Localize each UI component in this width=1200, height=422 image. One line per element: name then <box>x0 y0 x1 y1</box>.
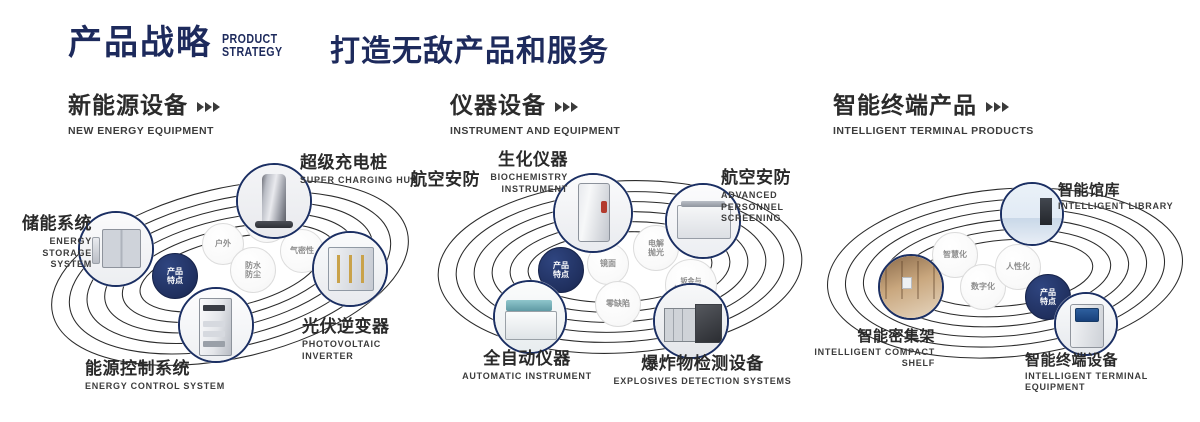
label-cn: 航空安防 <box>410 171 480 189</box>
node-photovoltaic-inverter[interactable] <box>312 231 388 307</box>
label-cn: 超级充电桩 <box>300 154 418 172</box>
label-super-charging-hub: 超级充电桩 SUPER CHARGING HUB <box>300 154 418 187</box>
section-title-row: 新能源设备 <box>68 95 220 118</box>
core-label-line1: 产品 <box>553 261 569 270</box>
feature-line1: 零缺陷 <box>606 299 630 308</box>
poster-canvas: 产品战略 PRODUCT STRATEGY 打造无敌产品和服务 新能源设备 NE… <box>0 0 1200 422</box>
feature-line1: 防水 <box>245 261 261 270</box>
node-automatic-instrument[interactable] <box>493 280 567 354</box>
feature-line1: 人性化 <box>1006 262 1030 271</box>
core-label-line2: 特点 <box>1040 297 1056 306</box>
page-subtitle: 打造无敌产品和服务 <box>330 34 609 70</box>
core-label-line1: 产品 <box>1040 288 1056 297</box>
cluster-new-energy: 产品 特点 户外 防腐 防锈 防水 防尘 气密性 <box>30 155 430 385</box>
label-aviation-security-left: 航空安防 <box>410 171 480 189</box>
label-en: ENERGY STORAGE SYSTEM <box>0 236 92 270</box>
label-cn: 爆炸物检测设备 <box>610 355 795 373</box>
label-intelligent-compact-shelf: 智能密集架 INTELLIGENT COMPACT SHELF <box>800 328 935 370</box>
label-en: INTELLIGENT LIBRARY <box>1058 201 1173 212</box>
label-intelligent-library: 智能馆库 INTELLIGENT LIBRARY <box>1058 182 1173 212</box>
node-intelligent-terminal-equipment[interactable] <box>1054 292 1118 356</box>
label-cn: 航空安防 <box>721 169 820 187</box>
page-title-en-line2: STRATEGY <box>222 45 283 58</box>
label-en: BIOCHEMISTRY INSTRUMENT <box>473 172 568 195</box>
node-explosives-detection-systems[interactable] <box>653 283 729 359</box>
section-title-cn: 新能源设备 <box>68 95 188 118</box>
feature-line2: 防尘 <box>245 270 261 279</box>
label-en: INTELLIGENT TERMINAL EQUIPMENT <box>1025 371 1200 394</box>
section-title-en: INSTRUMENT AND EQUIPMENT <box>450 125 620 137</box>
label-en: EXPLOSIVES DETECTION SYSTEMS <box>610 376 795 387</box>
feature-line1: 智慧化 <box>943 250 967 259</box>
core-label-line1: 产品 <box>167 267 183 276</box>
explosive-detector-photo <box>655 285 727 357</box>
inverter-cabinet-photo <box>314 233 386 305</box>
node-intelligent-compact-shelf[interactable] <box>878 254 944 320</box>
label-cn: 全自动仪器 <box>442 350 612 368</box>
label-cn: 智能终端设备 <box>1025 352 1200 368</box>
section-title-en: INTELLIGENT TERMINAL PRODUCTS <box>833 125 1034 137</box>
label-en: INTELLIGENT COMPACT SHELF <box>800 347 935 370</box>
cluster-intelligent-terminal: 智慧化 数字化 人性化 产品 特点 智能馆库 INTELLIGENT LIBRA… <box>810 160 1200 390</box>
section-title-cn: 仪器设备 <box>450 95 546 118</box>
feature-bubble-zero-defect[interactable]: 零缺陷 <box>595 281 641 327</box>
chevron-right-icon <box>197 102 220 112</box>
section-title-cn: 智能终端产品 <box>833 95 977 118</box>
library-interior-photo <box>1002 184 1062 244</box>
label-cn: 智能密集架 <box>800 328 935 344</box>
core-label-line2: 特点 <box>553 270 569 279</box>
label-cn: 能源控制系统 <box>85 360 225 378</box>
feature-line1: 数字化 <box>971 282 995 291</box>
label-en: ADVANCED PERSONNEL SCREENING <box>721 190 820 224</box>
label-energy-storage-system: 储能系统 ENERGY STORAGE SYSTEM <box>0 215 92 270</box>
label-en: PHOTOVOLTAIC INVERTER <box>302 339 430 362</box>
label-cn: 光伏逆变器 <box>302 318 430 336</box>
control-cabinet-photo <box>180 289 252 361</box>
label-biochemistry-instrument: 生化仪器 BIOCHEMISTRY INSTRUMENT <box>473 151 568 195</box>
chevron-right-icon <box>555 102 578 112</box>
label-advanced-personnel-screening: 航空安防 ADVANCED PERSONNEL SCREENING <box>721 169 820 224</box>
section-title-row: 仪器设备 <box>450 95 620 118</box>
feature-line1: 电解 <box>648 239 664 248</box>
label-automatic-instrument: 全自动仪器 AUTOMATIC INSTRUMENT <box>442 350 612 383</box>
section-title-row: 智能终端产品 <box>833 95 1034 118</box>
compact-shelving-photo <box>880 256 942 318</box>
label-explosives-detection-systems: 爆炸物检测设备 EXPLOSIVES DETECTION SYSTEMS <box>610 355 795 388</box>
node-energy-control-system[interactable] <box>178 287 254 363</box>
section-title-en: NEW ENERGY EQUIPMENT <box>68 125 220 137</box>
label-intelligent-terminal-equipment: 智能终端设备 INTELLIGENT TERMINAL EQUIPMENT <box>1025 352 1200 394</box>
page-title: 产品战略 PRODUCT STRATEGY <box>68 26 296 60</box>
core-label-line2: 特点 <box>167 276 183 285</box>
section-title-instrument: 仪器设备 INSTRUMENT AND EQUIPMENT <box>450 95 620 137</box>
automatic-analyzer-photo <box>495 282 565 352</box>
feature-line2: 抛光 <box>648 248 664 257</box>
label-en: ENERGY CONTROL SYSTEM <box>85 381 225 392</box>
page-title-en: PRODUCT STRATEGY <box>222 32 283 58</box>
feature-line1: 气密性 <box>290 246 314 255</box>
label-photovoltaic-inverter: 光伏逆变器 PHOTOVOLTAIC INVERTER <box>302 318 430 362</box>
section-title-new-energy: 新能源设备 NEW ENERGY EQUIPMENT <box>68 95 220 137</box>
cluster-instrument: 产品 特点 镜面 电解 抛光 零缺陷 钣金与 机加工结合 <box>420 155 820 385</box>
feature-line1: 户外 <box>215 239 231 248</box>
label-cn: 储能系统 <box>0 215 92 233</box>
feature-bubble-waterproof[interactable]: 防水 防尘 <box>230 247 276 293</box>
label-energy-control-system: 能源控制系统 ENERGY CONTROL SYSTEM <box>85 360 225 393</box>
node-intelligent-library[interactable] <box>1000 182 1064 246</box>
label-cn: 智能馆库 <box>1058 182 1173 198</box>
section-title-intelligent-terminal: 智能终端产品 INTELLIGENT TERMINAL PRODUCTS <box>833 95 1034 137</box>
page-title-cn: 产品战略 <box>68 26 212 60</box>
chevron-right-icon <box>986 102 1009 112</box>
feature-line1: 镜面 <box>600 259 616 268</box>
self-service-kiosk-photo <box>1056 294 1116 354</box>
label-en: AUTOMATIC INSTRUMENT <box>442 371 612 382</box>
label-en: SUPER CHARGING HUB <box>300 175 418 186</box>
label-cn: 生化仪器 <box>473 151 568 169</box>
